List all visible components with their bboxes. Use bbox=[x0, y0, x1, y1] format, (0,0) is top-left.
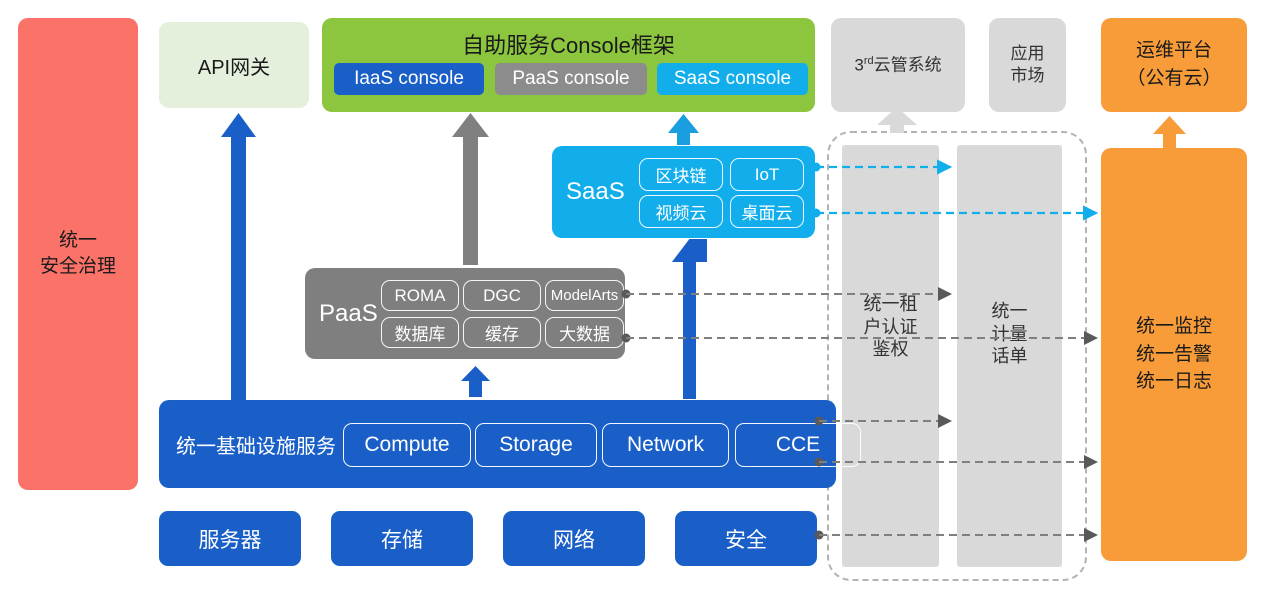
box-api-gateway-label: API网关 bbox=[198, 51, 270, 80]
box-network: 网络 bbox=[503, 511, 645, 566]
tag-modelarts[interactable]: ModelArts bbox=[545, 280, 624, 311]
tag-cache[interactable]: 缓存 bbox=[463, 317, 541, 348]
panel-saas-label: SaaS bbox=[566, 146, 625, 238]
box-network-label: 网络 bbox=[553, 524, 595, 554]
tag-video-cloud-label: 视频云 bbox=[656, 199, 707, 224]
box-server-label: 服务器 bbox=[199, 524, 262, 554]
panel-unified-infrastructure: 统一基础设施服务 Compute Storage Network CCE bbox=[159, 400, 836, 488]
box-security: 安全 bbox=[675, 511, 817, 566]
tag-cce[interactable]: CCE bbox=[735, 423, 861, 467]
panel-unified-infrastructure-label: 统一基础设施服务 bbox=[176, 400, 336, 488]
box-third-party-cloud-mgmt-label: 3rd云管系统 bbox=[854, 54, 941, 77]
box-ops-platform-label: 运维平台（公有云） bbox=[1126, 37, 1221, 92]
tag-dgc-label: DGC bbox=[483, 286, 521, 306]
panel-paas-label: PaaS bbox=[319, 268, 378, 359]
tag-database-label: 数据库 bbox=[395, 320, 446, 345]
column-unified-tenant-auth-label: 统一租户认证鉴权 bbox=[842, 293, 939, 361]
arrow-infra-to-saas bbox=[672, 239, 707, 399]
column-unified-tenant-auth: 统一租户认证鉴权 bbox=[842, 145, 939, 567]
tag-modelarts-label: ModelArts bbox=[551, 287, 619, 304]
column-unified-metering-billing-label: 统一计量话单 bbox=[957, 300, 1062, 368]
box-api-gateway: API网关 bbox=[159, 22, 309, 108]
box-security-label: 安全 bbox=[725, 524, 767, 554]
tag-compute[interactable]: Compute bbox=[343, 423, 471, 467]
box-server: 服务器 bbox=[159, 511, 301, 566]
chip-paas-console[interactable]: PaaS console bbox=[495, 63, 647, 95]
tag-dgc[interactable]: DGC bbox=[463, 280, 541, 311]
architecture-diagram: 统一安全治理 API网关 自助服务Console框架 IaaS console … bbox=[0, 0, 1265, 605]
tag-desktop-cloud[interactable]: 桌面云 bbox=[730, 195, 804, 228]
chip-iaas-console-label: IaaS console bbox=[354, 68, 464, 90]
tag-iot[interactable]: IoT bbox=[730, 158, 804, 191]
tag-network-label: Network bbox=[627, 433, 704, 457]
tag-blockchain[interactable]: 区块链 bbox=[639, 158, 723, 191]
chip-saas-console[interactable]: SaaS console bbox=[657, 63, 808, 95]
box-third-party-cloud-mgmt: 3rd云管系统 bbox=[831, 18, 965, 112]
box-app-market: 应用市场 bbox=[989, 18, 1066, 112]
tag-bigdata-label: 大数据 bbox=[559, 320, 610, 345]
third-cloud-sup: rd bbox=[864, 55, 874, 67]
arrow-infra-to-api-gateway bbox=[221, 113, 256, 400]
panel-self-service-console-title: 自助服务Console框架 bbox=[322, 28, 815, 60]
panel-unified-security-governance: 统一安全治理 bbox=[18, 18, 138, 490]
panel-paas: PaaS ROMA DGC ModelArts 数据库 缓存 大数据 bbox=[305, 268, 625, 359]
tag-video-cloud[interactable]: 视频云 bbox=[639, 195, 723, 228]
panel-self-service-console: 自助服务Console框架 IaaS console PaaS console … bbox=[322, 18, 815, 112]
box-storage-label: 存储 bbox=[381, 524, 423, 554]
column-unified-metering-billing: 统一计量话单 bbox=[957, 145, 1062, 567]
tag-cce-label: CCE bbox=[776, 433, 820, 457]
tag-roma-label: ROMA bbox=[395, 286, 446, 306]
chip-iaas-console[interactable]: IaaS console bbox=[334, 63, 484, 95]
tag-network[interactable]: Network bbox=[602, 423, 729, 467]
third-cloud-prefix: 3 bbox=[854, 55, 863, 74]
tag-bigdata[interactable]: 大数据 bbox=[545, 317, 624, 348]
tag-cache-label: 缓存 bbox=[485, 320, 519, 345]
tag-desktop-cloud-label: 桌面云 bbox=[742, 199, 793, 224]
tag-roma[interactable]: ROMA bbox=[381, 280, 459, 311]
arrow-saas-to-saas-console bbox=[668, 114, 699, 145]
arrow-infra-to-paas bbox=[461, 366, 490, 397]
chip-paas-console-label: PaaS console bbox=[512, 68, 629, 90]
tag-database[interactable]: 数据库 bbox=[381, 317, 459, 348]
box-app-market-label: 应用市场 bbox=[1011, 43, 1045, 87]
arrow-to-ops-platform bbox=[1153, 116, 1186, 148]
tag-storage-label: Storage bbox=[499, 433, 573, 457]
tag-blockchain-label: 区块链 bbox=[656, 162, 707, 187]
chip-saas-console-label: SaaS console bbox=[674, 68, 791, 90]
arrow-paas-to-console bbox=[452, 113, 489, 265]
panel-unified-monitoring-label: 统一监控统一告警统一日志 bbox=[1136, 313, 1212, 396]
panel-saas: SaaS 区块链 IoT 视频云 桌面云 bbox=[552, 146, 815, 238]
tag-iot-label: IoT bbox=[755, 165, 780, 185]
tag-compute-label: Compute bbox=[364, 433, 449, 457]
tag-storage[interactable]: Storage bbox=[475, 423, 597, 467]
box-ops-platform: 运维平台（公有云） bbox=[1101, 18, 1247, 112]
panel-unified-monitoring: 统一监控统一告警统一日志 bbox=[1101, 148, 1247, 561]
third-cloud-suffix: 云管系统 bbox=[874, 55, 942, 74]
box-storage: 存储 bbox=[331, 511, 473, 566]
panel-unified-security-governance-label: 统一安全治理 bbox=[40, 228, 116, 279]
